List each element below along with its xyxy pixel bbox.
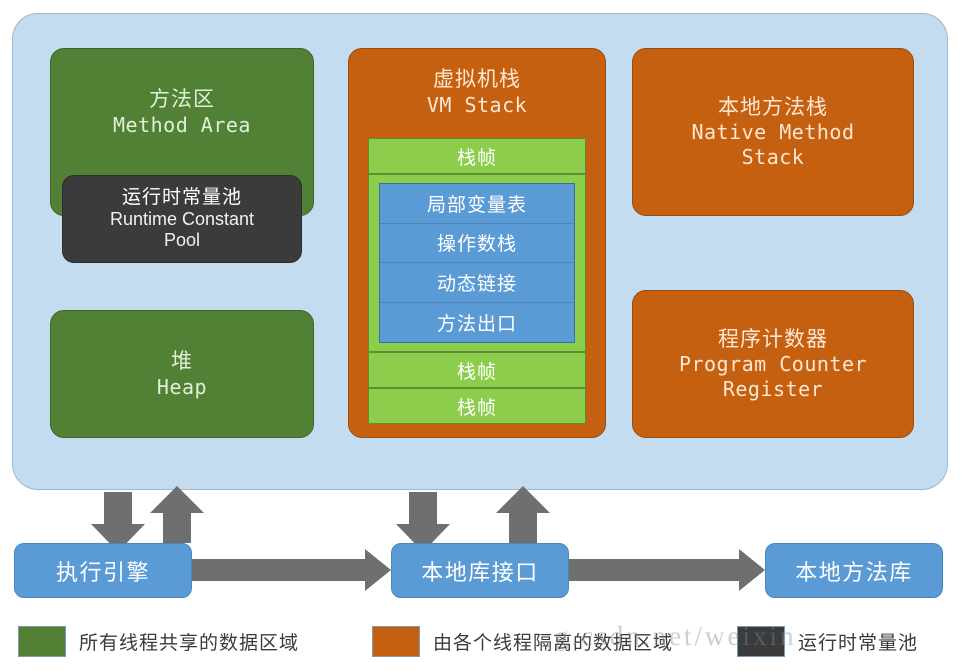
stack-frame-parts: 局部变量表 操作数栈 动态链接 方法出口 [379,183,575,343]
program-counter-register-box[interactable]: 程序计数器 Program Counter Register [632,290,914,438]
legend-swatch-orange [372,626,420,657]
program-counter-title-en-line1: Program Counter [679,352,867,376]
legend-label-isolated: 由各个线程隔离的数据区域 [433,628,673,655]
legend-label-constant-pool: 运行时常量池 [798,628,918,655]
legend-swatch-green [18,626,66,657]
stack-frame[interactable]: 栈帧 [368,352,586,388]
native-method-stack-title-en-line1: Native Method [691,120,854,144]
legend-item-isolated: 由各个线程隔离的数据区域 [372,624,673,658]
frame-part-local-variable-table[interactable]: 局部变量表 [380,184,574,224]
method-area-title-en: Method Area [113,113,251,137]
native-library-box[interactable]: 本地方法库 [765,543,943,598]
stack-frame[interactable]: 栈帧 [368,388,586,424]
program-counter-title-cn: 程序计数器 [718,327,828,353]
native-interface-box[interactable]: 本地库接口 [391,543,569,598]
native-method-stack-title-en-line2: Stack [742,145,805,169]
arrow-up-middle-icon [496,486,550,543]
stack-frame[interactable]: 栈帧 [368,138,586,174]
heap-title-en: Heap [157,375,207,399]
stack-frame-expanded[interactable]: 局部变量表 操作数栈 动态链接 方法出口 [368,174,586,352]
runtime-constant-pool-title-cn: 运行时常量池 [122,186,242,209]
arrow-up-left-icon [150,486,204,543]
runtime-constant-pool-box[interactable]: 运行时常量池 Runtime Constant Pool [62,175,302,263]
legend-swatch-dark [737,626,785,657]
frame-part-dynamic-linking[interactable]: 动态链接 [380,263,574,303]
arrow-right-interface-to-library-icon [569,549,765,591]
vm-stack-frame-list: 栈帧 局部变量表 操作数栈 动态链接 方法出口 栈帧 栈帧 [368,138,586,424]
runtime-constant-pool-title-en-line1: Runtime Constant [110,209,254,231]
legend-item-shared: 所有线程共享的数据区域 [18,624,299,658]
execution-engine-box[interactable]: 执行引擎 [14,543,192,598]
heap-box[interactable]: 堆 Heap [50,310,314,438]
frame-part-operand-stack[interactable]: 操作数栈 [380,224,574,264]
diagram-canvas: 方法区 Method Area 运行时常量池 Runtime Constant … [0,0,961,671]
legend-label-shared: 所有线程共享的数据区域 [79,628,299,655]
frame-part-method-exit[interactable]: 方法出口 [380,303,574,343]
method-area-title-cn: 方法区 [149,87,215,113]
legend: 所有线程共享的数据区域 由各个线程隔离的数据区域 运行时常量池 [0,612,961,671]
native-method-stack-box[interactable]: 本地方法栈 Native Method Stack [632,48,914,216]
vm-stack-title-en: VM Stack [427,93,527,117]
heap-title-cn: 堆 [171,349,193,375]
program-counter-title-en-line2: Register [723,377,823,401]
vm-stack-title-cn: 虚拟机栈 [433,67,521,93]
runtime-constant-pool-title-en-line2: Pool [164,230,200,252]
native-method-stack-title-cn: 本地方法栈 [718,95,828,121]
arrow-right-exec-to-interface-icon [192,549,391,591]
legend-item-constant-pool: 运行时常量池 [737,624,918,658]
